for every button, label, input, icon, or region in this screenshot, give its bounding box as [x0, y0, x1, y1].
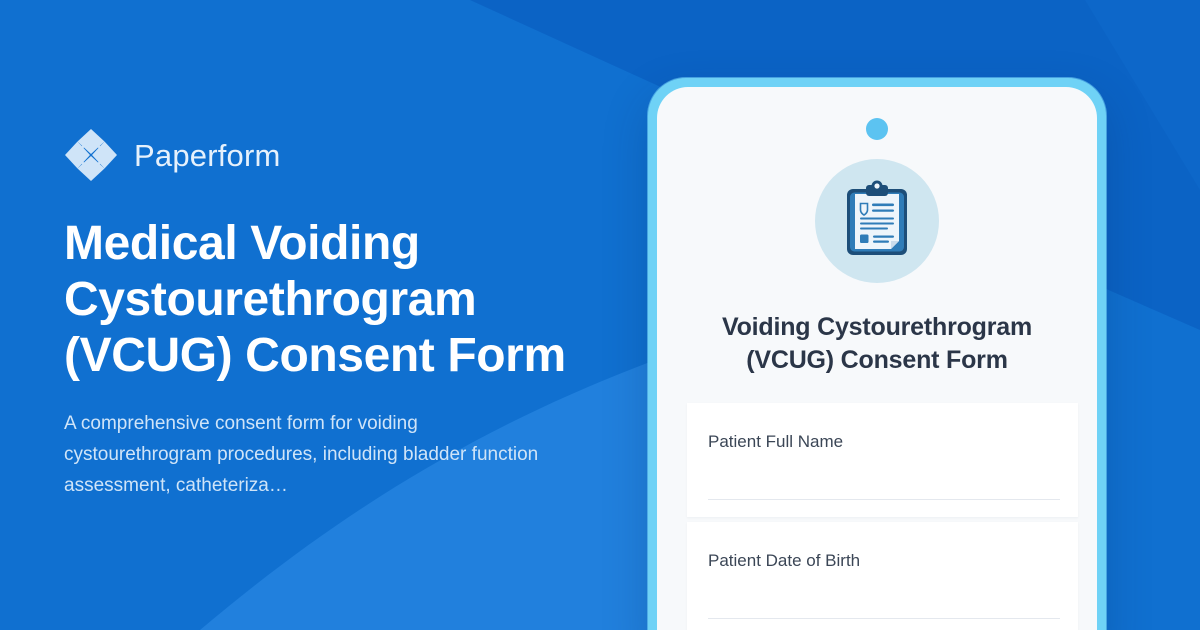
field-label: Patient Date of Birth — [708, 550, 1057, 572]
field-label: Patient Full Name — [708, 431, 1057, 453]
phone-mockup: Voiding Cystourethrogram (VCUG) Consent … — [648, 78, 1106, 630]
clipboard-document-icon — [815, 159, 939, 283]
hero-description: A comprehensive consent form for voiding… — [64, 409, 554, 501]
form-field-patient-full-name[interactable]: Patient Full Name — [687, 403, 1078, 517]
paperform-star-logo-icon — [64, 128, 118, 182]
form-field-list: Patient Full Name Patient Date of Birth — [687, 403, 1078, 630]
field-input-underline[interactable] — [708, 499, 1060, 500]
field-input-underline[interactable] — [708, 618, 1060, 619]
hero-content: Paperform Medical Voiding Cystourethrogr… — [64, 0, 664, 630]
brand-lockup: Paperform — [64, 128, 664, 182]
brand-name: Paperform — [134, 140, 281, 171]
camera-dot-icon — [866, 118, 888, 140]
form-field-patient-date-of-birth[interactable]: Patient Date of Birth — [687, 522, 1078, 630]
page-title: Medical Voiding Cystourethrogram (VCUG) … — [64, 216, 624, 383]
form-title: Voiding Cystourethrogram (VCUG) Consent … — [681, 311, 1073, 377]
phone-screen: Voiding Cystourethrogram (VCUG) Consent … — [657, 87, 1097, 630]
promo-banner: Paperform Medical Voiding Cystourethrogr… — [0, 0, 1200, 630]
